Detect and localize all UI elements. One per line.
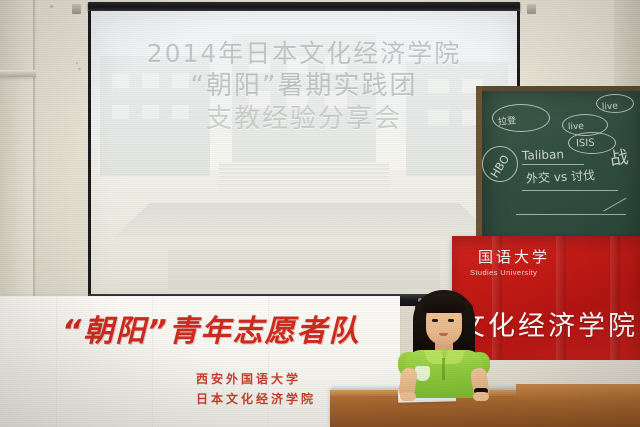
chalk-underline	[522, 164, 584, 165]
chalk-note: 外交 vs 讨伐	[526, 166, 596, 187]
slide-line-3: 支教经验分享会	[206, 103, 402, 136]
presenter-bangs	[423, 294, 465, 313]
chalk-note: Taliban	[522, 147, 564, 162]
presenter-shirt-placket	[442, 358, 445, 380]
screen-bracket-left	[72, 4, 81, 14]
presenter-hand-right	[473, 392, 489, 401]
chalk-note: live	[568, 122, 584, 133]
chalk-note: ISIS	[576, 138, 595, 150]
wall-molding	[0, 70, 36, 77]
photo-scene: 2014年日本文化经济学院 “朝阳”暑期实践团 支教经验分享会	[0, 0, 640, 427]
presenter-mouth	[439, 333, 448, 336]
screen-bracket-right	[527, 4, 536, 14]
wall-mark	[76, 62, 78, 64]
red-banner-university-en: Studies University	[470, 268, 537, 277]
wall-mark	[78, 68, 81, 70]
white-banner-sub-line-1: 西安外国语大学	[196, 370, 301, 387]
chalk-stroke	[603, 198, 626, 212]
slide-line-1: 2014年日本文化经济学院	[147, 38, 462, 70]
presenter-hand-left	[400, 392, 416, 401]
chalk-underline	[516, 214, 626, 215]
blackboard-frame-top	[482, 86, 640, 91]
presenter-eye-right	[448, 319, 454, 322]
chalk-underline	[522, 190, 618, 191]
wall-mark	[50, 5, 53, 8]
red-banner-university-cn: 国语大学	[478, 246, 550, 267]
screen-housing	[88, 2, 520, 11]
chalk-note: 拉登	[497, 113, 516, 128]
white-banner-main-text: “朝阳”青年志愿者队	[62, 306, 361, 350]
presenter	[396, 288, 492, 400]
white-banner-sub-line-2: 日本文化经济学院	[196, 390, 316, 407]
chalk-note: 战	[608, 143, 629, 171]
slide-line-2: “朝阳”暑期实践团	[191, 70, 418, 103]
presenter-eye-left	[432, 319, 438, 322]
podium-right-section	[516, 384, 640, 427]
chalk-note: live	[602, 101, 619, 112]
